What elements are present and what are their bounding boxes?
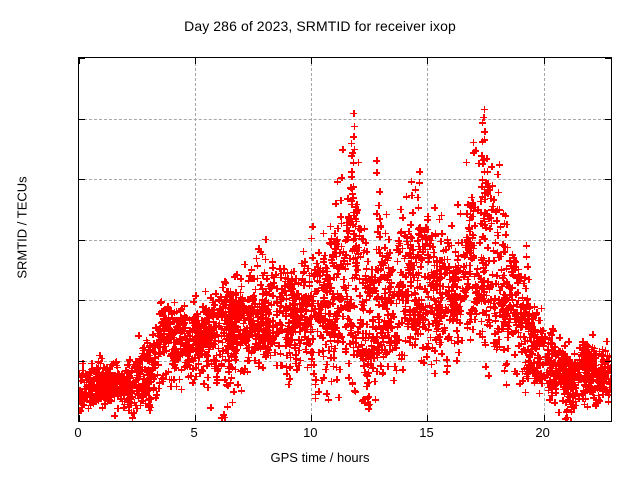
data-point-marker [398,281,405,288]
data-point-marker [557,379,564,386]
data-point-marker [445,287,452,294]
data-point-marker [557,370,564,377]
data-point-marker [354,266,361,273]
data-point-marker [372,287,379,294]
data-point-marker [208,335,215,342]
data-point-marker [503,381,510,388]
data-point-marker [243,306,250,313]
data-point-marker [89,395,96,402]
data-point-marker [156,310,163,317]
data-point-marker [329,300,336,307]
data-point-marker [82,373,89,380]
data-point-marker [173,383,180,390]
data-point-marker [429,280,436,287]
data-point-marker [209,343,216,350]
data-point-marker [600,371,607,378]
data-point-marker [213,324,220,331]
data-point-marker [468,306,475,313]
data-point-marker [260,326,267,333]
data-point-marker [120,404,127,411]
data-point-marker [222,312,229,319]
data-point-marker [241,308,248,315]
data-point-marker [313,260,320,267]
data-point-marker [488,206,495,213]
data-point-marker [518,310,525,317]
data-point-marker [407,244,414,251]
data-point-marker [378,346,385,353]
data-point-marker [153,339,160,346]
data-point-marker [104,371,111,378]
y-axis-tick [79,361,85,362]
data-point-marker [366,352,373,359]
data-point-marker [258,306,265,313]
data-point-marker [79,373,85,380]
y-axis-tick-right [605,119,611,120]
data-point-marker [431,204,438,211]
data-point-marker [498,325,505,332]
x-axis-tick [79,415,80,421]
data-point-marker [545,356,552,363]
data-point-marker [197,342,204,349]
data-point-marker [511,309,518,316]
data-point-marker [129,365,136,372]
data-point-marker [350,159,357,166]
data-point-marker [586,364,593,371]
data-point-marker [232,291,239,298]
data-point-marker [603,338,610,345]
data-point-marker [280,265,287,272]
data-point-marker [554,368,561,375]
data-point-marker [567,369,574,376]
data-point-marker [463,285,470,292]
data-point-marker [220,411,227,418]
data-point-marker [563,378,570,385]
data-point-marker [150,386,157,393]
data-point-marker [414,311,421,318]
data-point-marker [396,281,403,288]
data-point-marker [445,288,452,295]
data-point-marker [80,391,87,398]
data-point-marker [447,309,454,316]
data-point-marker [429,307,436,314]
data-point-marker [278,290,285,297]
data-point-marker [438,274,445,281]
data-point-marker [499,274,506,281]
data-point-marker [559,367,566,374]
data-point-marker [129,390,136,397]
data-point-marker [193,311,200,318]
data-point-marker [493,217,500,224]
data-point-marker [559,397,566,404]
data-point-marker [293,314,300,321]
data-point-marker [254,327,261,334]
data-point-marker [154,342,161,349]
data-point-marker [454,334,461,341]
data-point-marker [277,362,284,369]
data-point-marker [104,392,111,399]
data-point-marker [412,254,419,261]
data-point-marker [201,334,208,341]
data-point-marker [165,327,172,334]
data-point-marker [425,321,432,328]
data-point-marker [505,304,512,311]
data-point-marker [185,373,192,380]
data-point-marker [498,283,505,290]
data-point-marker [361,369,368,376]
data-point-marker [414,284,421,291]
data-point-marker [599,346,606,353]
data-point-marker [103,389,110,396]
data-point-marker [533,334,540,341]
data-point-marker [519,319,526,326]
data-point-marker [180,346,187,353]
data-point-marker [150,348,157,355]
data-point-marker [594,372,601,379]
data-point-marker [339,338,346,345]
data-point-marker [359,305,366,312]
data-point-marker [432,304,439,311]
data-point-marker [128,387,135,394]
data-point-marker [319,267,326,274]
data-point-marker [563,373,570,380]
data-point-marker [533,311,540,318]
data-point-marker [534,340,541,347]
data-point-marker [111,388,118,395]
data-point-marker [583,379,590,386]
data-point-marker [108,386,115,393]
data-point-marker [401,255,408,262]
data-point-marker [178,315,185,322]
data-point-marker [546,377,553,384]
data-point-marker [462,244,469,251]
data-point-marker [292,295,299,302]
data-point-marker [524,295,531,302]
data-point-marker [279,322,286,329]
data-point-marker [104,383,111,390]
data-point-marker [304,265,311,272]
data-point-marker [106,374,113,381]
data-point-marker [324,302,331,309]
data-point-marker [79,373,84,380]
data-point-marker [449,301,456,308]
data-point-marker [385,318,392,325]
data-point-marker [262,331,269,338]
data-point-marker [494,229,501,236]
data-point-marker [471,273,478,280]
data-point-marker [113,362,120,369]
data-point-marker [204,309,211,316]
data-point-marker [555,347,562,354]
data-point-marker [590,376,597,383]
data-point-marker [89,387,96,394]
data-point-marker [186,332,193,339]
data-point-marker [322,303,329,310]
data-point-marker [455,276,462,283]
data-point-marker [487,283,494,290]
data-point-marker [247,331,254,338]
data-point-marker [576,363,583,370]
data-point-marker [263,318,270,325]
data-point-marker [439,262,446,269]
data-point-marker [520,280,527,287]
data-point-marker [584,372,591,379]
data-point-marker [105,394,112,401]
data-point-marker [528,342,535,349]
data-point-marker [253,335,260,342]
data-point-marker [103,394,110,401]
data-point-marker [234,307,241,314]
data-point-marker [380,301,387,308]
data-point-marker [483,210,490,217]
data-point-marker [227,314,234,321]
data-point-marker [409,323,416,330]
data-point-marker [249,326,256,333]
data-point-marker [513,315,520,322]
data-point-marker [175,322,182,329]
data-point-marker [123,379,130,386]
data-point-marker [351,274,358,281]
data-point-marker [552,362,559,369]
data-point-marker [599,391,606,398]
data-point-marker [433,319,440,326]
data-point-marker [500,346,507,353]
data-point-marker [528,319,535,326]
data-point-marker [491,304,498,311]
data-point-marker [113,388,120,395]
data-point-marker [536,390,543,397]
data-point-marker [290,317,297,324]
data-point-marker [432,230,439,237]
data-point-marker [228,352,235,359]
data-point-marker [127,381,134,388]
data-point-marker [566,394,573,401]
data-point-marker [315,349,322,356]
data-point-marker [457,307,464,314]
data-point-marker [389,292,396,299]
data-point-marker [360,302,367,309]
data-point-marker [98,371,105,378]
data-point-marker [391,332,398,339]
data-point-marker [567,401,574,408]
data-point-marker [236,310,243,317]
data-point-marker [352,334,359,341]
data-point-marker [468,255,475,262]
data-point-marker [353,201,360,208]
data-point-marker [203,315,210,322]
data-point-marker [462,289,469,296]
data-point-marker [255,328,262,335]
data-point-marker [494,171,501,178]
data-point-marker [315,317,322,324]
data-point-marker [182,363,189,370]
data-point-marker [198,341,205,348]
data-point-marker [336,366,343,373]
data-point-marker [347,327,354,334]
data-point-marker [493,346,500,353]
data-point-marker [451,281,458,288]
data-point-marker [158,309,165,316]
data-point-marker [518,340,525,347]
data-point-marker [199,320,206,327]
data-point-marker [89,381,96,388]
data-point-marker [600,384,607,391]
data-point-marker [570,399,577,406]
data-point-marker [591,351,598,358]
data-point-marker [581,341,588,348]
data-point-marker [541,333,548,340]
data-point-marker [341,302,348,309]
data-point-marker [227,338,234,345]
data-point-marker [483,311,490,318]
data-point-marker [463,159,470,166]
data-point-marker [365,334,372,341]
data-point-marker [122,384,129,391]
data-point-marker [204,384,211,391]
data-point-marker [90,396,97,403]
data-point-marker [345,213,352,220]
data-point-marker [180,327,187,334]
data-point-marker [273,308,280,315]
data-point-marker [321,315,328,322]
data-point-marker [161,343,168,350]
data-point-marker [453,266,460,273]
data-point-marker [453,301,460,308]
data-point-marker [313,260,320,267]
data-point-marker [352,388,359,395]
data-point-marker [555,366,562,373]
data-point-marker [101,389,108,396]
data-point-marker [324,268,331,275]
data-point-marker [375,343,382,350]
data-point-marker [154,371,161,378]
data-point-marker [369,317,376,324]
data-point-marker [467,247,474,254]
data-point-marker [284,335,291,342]
data-point-marker [585,343,592,350]
data-point-marker [386,348,393,355]
data-point-marker [130,361,137,368]
data-point-marker [346,216,353,223]
data-point-marker [265,346,272,353]
data-point-marker [248,347,255,354]
data-point-marker [147,396,154,403]
data-point-marker [302,317,309,324]
data-point-marker [243,329,250,336]
data-point-marker [441,270,448,277]
data-point-marker [227,314,234,321]
data-point-marker [134,391,141,398]
data-point-marker [417,226,424,233]
data-point-marker [130,381,137,388]
data-point-marker [248,303,255,310]
data-point-marker [580,345,587,352]
data-point-marker [602,369,609,376]
data-point-marker [271,349,278,356]
data-point-marker [208,329,215,336]
data-point-marker [104,374,111,381]
data-point-marker [231,315,238,322]
data-point-marker [292,275,299,282]
data-point-marker [86,398,93,405]
x-axis-tick [311,415,312,421]
data-point-marker [199,343,206,350]
data-point-marker [441,324,448,331]
data-point-marker [521,365,528,372]
data-point-marker [375,279,382,286]
data-point-marker [585,377,592,384]
data-point-marker [468,202,475,209]
data-point-marker [437,309,444,316]
data-point-marker [301,313,308,320]
data-point-marker [236,307,243,314]
data-point-marker [269,292,276,299]
data-point-marker [514,289,521,296]
data-point-marker [435,311,442,318]
data-point-marker [533,309,540,316]
x-axis-tick-top [311,58,312,64]
data-point-marker [496,326,503,333]
data-point-marker [605,391,611,398]
data-point-marker [478,256,485,263]
data-point-marker [106,375,113,382]
data-point-marker [480,255,487,262]
data-point-marker [410,262,417,269]
data-point-marker [102,376,109,383]
data-point-marker [112,378,119,385]
data-point-marker [438,350,445,357]
data-point-marker [360,307,367,314]
data-point-marker [276,308,283,315]
data-point-marker [173,337,180,344]
data-point-marker [334,308,341,315]
data-point-marker [502,309,509,316]
data-point-marker [451,303,458,310]
data-point-marker [486,322,493,329]
data-point-marker [326,316,333,323]
data-point-marker [121,395,128,402]
data-point-marker [433,286,440,293]
data-point-marker [240,320,247,327]
data-point-marker [480,156,487,163]
data-point-marker [98,390,105,397]
data-point-marker [458,295,465,302]
data-point-marker [199,367,206,374]
data-point-marker [301,333,308,340]
data-point-marker [582,365,589,372]
data-point-marker [409,308,416,315]
data-point-marker [416,168,423,175]
data-point-marker [585,367,592,374]
data-point-marker [571,350,578,357]
data-point-marker [146,371,153,378]
data-point-marker [381,244,388,251]
data-point-marker [389,310,396,317]
data-point-marker [242,307,249,314]
data-point-marker [566,381,573,388]
data-point-marker [396,289,403,296]
data-point-marker [377,265,384,272]
data-point-marker [332,200,339,207]
data-point-marker [193,346,200,353]
data-point-marker [262,315,269,322]
data-point-marker [281,282,288,289]
data-point-marker [393,344,400,351]
data-point-marker [317,265,324,272]
data-point-marker [252,340,259,347]
data-point-marker [530,312,537,319]
data-point-marker [159,308,166,315]
data-point-marker [600,373,607,380]
